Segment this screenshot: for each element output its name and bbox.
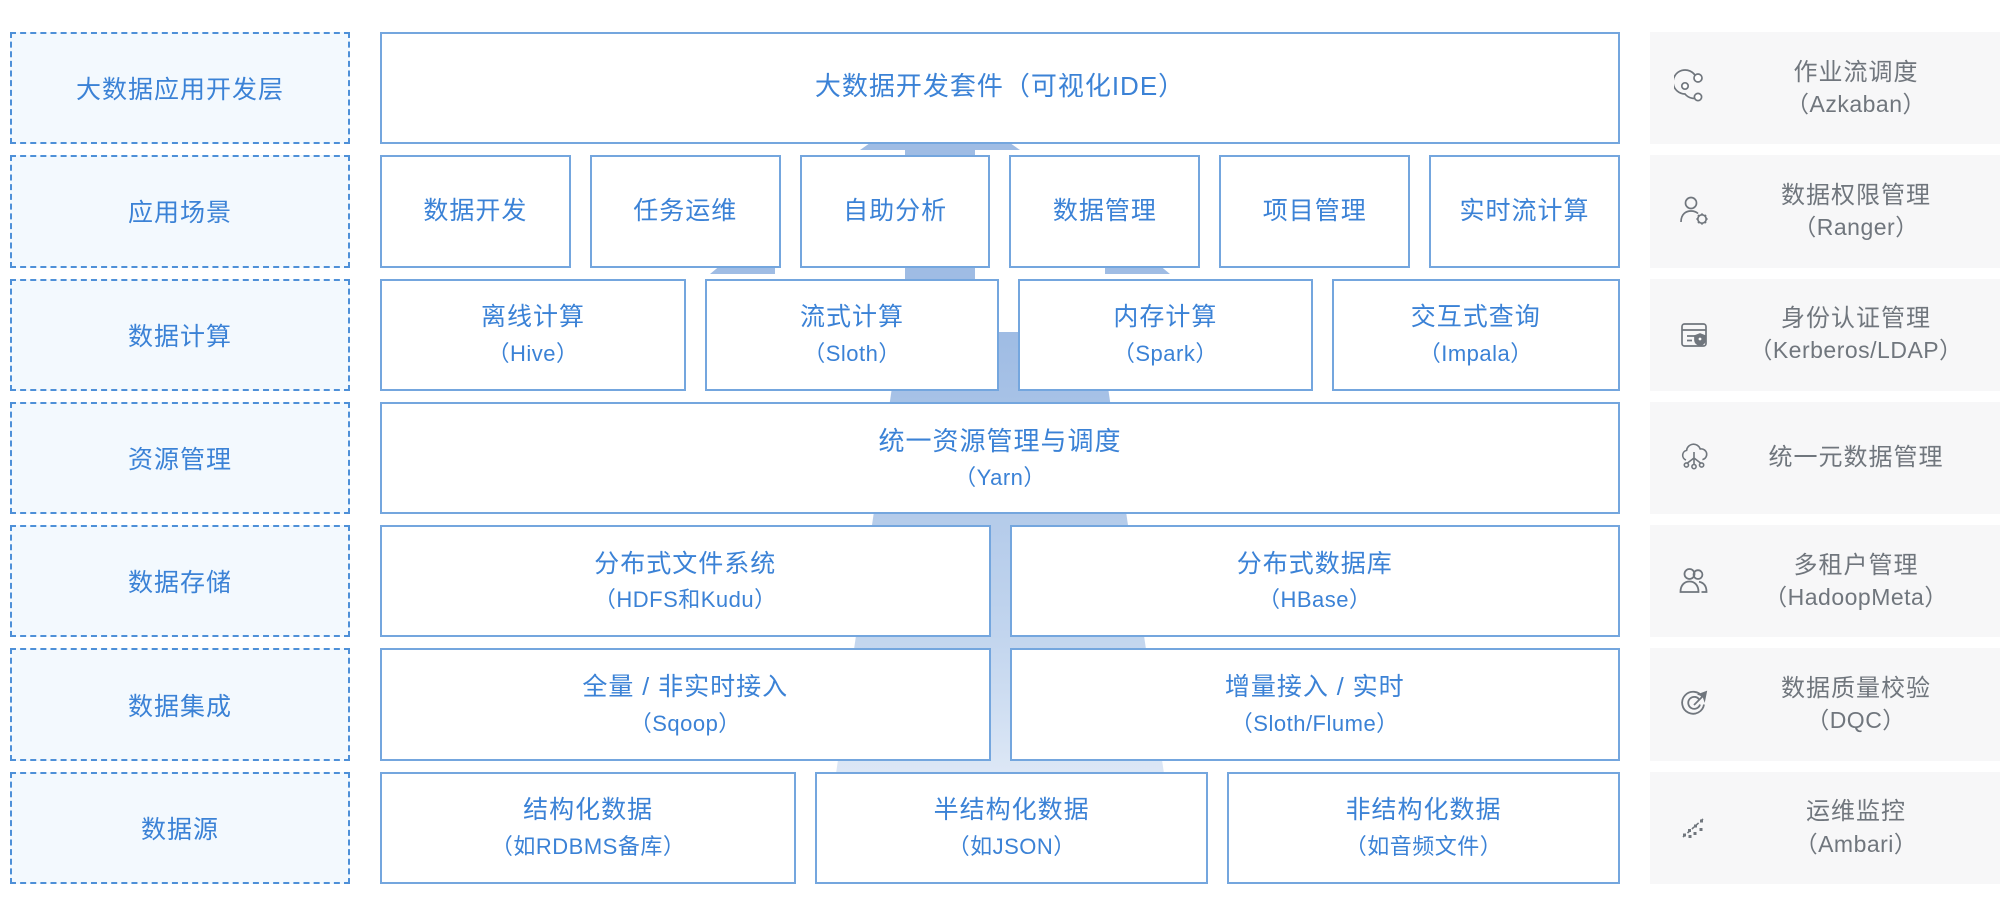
scatter-trend-icon: [1666, 808, 1722, 848]
tool-title: 作业流调度: [1722, 57, 1990, 89]
tool-subtitle: （Ranger）: [1722, 212, 1990, 243]
box-subtitle: （Sloth）: [803, 339, 901, 369]
user-settings-icon: [1666, 191, 1722, 231]
sidebar-item-workflow-scheduling[interactable]: 作业流调度 （Azkaban）: [1650, 32, 2000, 144]
box-title: 分布式文件系统: [594, 548, 776, 582]
box-title: 数据管理: [1053, 195, 1157, 229]
architecture-rows: 大数据开发套件（可视化IDE） 数据开发 任务运维 自助分析 数据管理 项目管理…: [380, 32, 1620, 884]
row-storage: 分布式文件系统 （HDFS和Kudu） 分布式数据库 （HBase）: [380, 525, 1620, 637]
box-title: 自助分析: [843, 195, 947, 229]
box-unified-resource-scheduling[interactable]: 统一资源管理与调度 （Yarn）: [380, 402, 1620, 514]
box-distributed-filesystem[interactable]: 分布式文件系统 （HDFS和Kudu）: [380, 525, 991, 637]
sidebar-item-unified-metadata[interactable]: 统一元数据管理: [1650, 402, 2000, 514]
sidebar-item-label: 数据质量校验 （DQC）: [1722, 673, 2000, 736]
layer-label-text: 数据存储: [128, 563, 232, 599]
row-compute: 离线计算 （Hive） 流式计算 （Sloth） 内存计算 （Spark） 交互…: [380, 279, 1620, 391]
box-title: 全量 / 非实时接入: [582, 671, 788, 705]
sidebar-item-label: 多租户管理 （HadoopMeta）: [1722, 550, 2000, 613]
box-subtitle: （Impala）: [1419, 339, 1533, 369]
layer-label-text: 数据源: [141, 810, 219, 846]
sidebar-item-identity-auth[interactable]: 身份认证管理 （Kerberos/LDAP）: [1650, 279, 2000, 391]
layer-label-text: 应用场景: [128, 193, 232, 229]
box-title: 任务运维: [633, 195, 737, 229]
box-semi-structured-data[interactable]: 半结构化数据 （如JSON）: [815, 772, 1208, 884]
tool-subtitle: （Kerberos/LDAP）: [1722, 335, 1990, 366]
layer-label-sources: 数据源: [10, 772, 350, 884]
row-app-dev: 大数据开发套件（可视化IDE）: [380, 32, 1620, 144]
row-integration: 全量 / 非实时接入 （Sqoop） 增量接入 / 实时 （Sloth/Flum…: [380, 648, 1620, 760]
box-subtitle: （Sloth/Flume）: [1231, 709, 1399, 739]
layer-label-text: 数据计算: [128, 317, 232, 353]
box-title: 统一资源管理与调度: [878, 424, 1121, 459]
box-title: 数据开发: [423, 195, 527, 229]
tool-subtitle: （DQC）: [1722, 705, 1990, 736]
box-title: 交互式查询: [1411, 301, 1541, 335]
tool-title: 统一元数据管理: [1722, 442, 1990, 474]
layer-label-compute: 数据计算: [10, 279, 350, 391]
layer-label-text: 大数据应用开发层: [76, 70, 284, 106]
box-data-development[interactable]: 数据开发: [380, 155, 571, 267]
box-realtime-streaming[interactable]: 实时流计算: [1429, 155, 1620, 267]
box-title: 分布式数据库: [1237, 548, 1393, 582]
sidebar-item-label: 数据权限管理 （Ranger）: [1722, 180, 2000, 243]
sidebar-item-label: 作业流调度 （Azkaban）: [1722, 57, 2000, 120]
box-subtitle: （Spark）: [1113, 339, 1218, 369]
target-arrow-icon: [1666, 685, 1722, 725]
tool-subtitle: （Azkaban）: [1722, 89, 1990, 120]
box-title: 大数据开发套件（可视化IDE）: [815, 69, 1185, 104]
box-title: 离线计算: [481, 301, 585, 335]
tool-subtitle: （Ambari）: [1722, 829, 1990, 860]
box-offline-compute[interactable]: 离线计算 （Hive）: [380, 279, 686, 391]
sidebar-item-label: 统一元数据管理: [1722, 442, 2000, 474]
box-dev-suite[interactable]: 大数据开发套件（可视化IDE）: [380, 32, 1620, 144]
layer-label-resource: 资源管理: [10, 402, 350, 514]
box-title: 实时流计算: [1460, 195, 1590, 229]
box-incremental-realtime-ingest[interactable]: 增量接入 / 实时 （Sloth/Flume）: [1010, 648, 1621, 760]
layer-label-integration: 数据集成: [10, 648, 350, 760]
box-full-batch-ingest[interactable]: 全量 / 非实时接入 （Sqoop）: [380, 648, 991, 760]
box-structured-data[interactable]: 结构化数据 （如RDBMS备库）: [380, 772, 796, 884]
sidebar-item-ops-monitoring[interactable]: 运维监控 （Ambari）: [1650, 772, 2000, 884]
tool-title: 多租户管理: [1722, 550, 1990, 582]
row-scenarios: 数据开发 任务运维 自助分析 数据管理 项目管理 实时流计算: [380, 155, 1620, 267]
layer-label-app-dev: 大数据应用开发层: [10, 32, 350, 144]
box-title: 内存计算: [1113, 301, 1217, 335]
row-sources: 结构化数据 （如RDBMS备库） 半结构化数据 （如JSON） 非结构化数据 （…: [380, 772, 1620, 884]
box-subtitle: （如音频文件）: [1345, 832, 1503, 862]
layer-label-column: 大数据应用开发层 应用场景 数据计算 资源管理 数据存储 数据集成 数据源: [10, 32, 350, 884]
box-subtitle: （如JSON）: [948, 832, 1076, 862]
tool-subtitle: （HadoopMeta）: [1722, 582, 1990, 613]
sidebar-item-label: 身份认证管理 （Kerberos/LDAP）: [1722, 303, 2000, 366]
box-task-ops[interactable]: 任务运维: [590, 155, 781, 267]
box-subtitle: （HBase）: [1258, 585, 1372, 615]
tool-title: 数据质量校验: [1722, 673, 1990, 705]
box-title: 流式计算: [800, 301, 904, 335]
multi-user-icon: [1666, 561, 1722, 601]
sidebar-item-data-permission[interactable]: 数据权限管理 （Ranger）: [1650, 155, 2000, 267]
tool-title: 数据权限管理: [1722, 180, 1990, 212]
box-title: 增量接入 / 实时: [1225, 671, 1405, 705]
box-subtitle: （如RDBMS备库）: [491, 832, 685, 862]
layer-label-storage: 数据存储: [10, 525, 350, 637]
box-self-service-analysis[interactable]: 自助分析: [800, 155, 991, 267]
box-memory-compute[interactable]: 内存计算 （Spark）: [1018, 279, 1312, 391]
box-subtitle: （Hive）: [487, 339, 578, 369]
workflow-nodes-icon: [1666, 68, 1722, 108]
platform-tools-sidebar: 作业流调度 （Azkaban） 数据权限管理 （Ranger）: [1650, 32, 2000, 884]
document-shield-icon: [1666, 315, 1722, 355]
box-title: 半结构化数据: [934, 794, 1090, 828]
box-interactive-query[interactable]: 交互式查询 （Impala）: [1332, 279, 1621, 391]
layer-label-scenarios: 应用场景: [10, 155, 350, 267]
sidebar-item-data-quality[interactable]: 数据质量校验 （DQC）: [1650, 648, 2000, 760]
box-project-management[interactable]: 项目管理: [1219, 155, 1410, 267]
box-data-management[interactable]: 数据管理: [1009, 155, 1200, 267]
row-resource: 统一资源管理与调度 （Yarn）: [380, 402, 1620, 514]
box-title: 非结构化数据: [1346, 794, 1502, 828]
sidebar-item-label: 运维监控 （Ambari）: [1722, 796, 2000, 859]
box-title: 结构化数据: [523, 794, 653, 828]
box-subtitle: （Sqoop）: [630, 709, 741, 739]
sidebar-item-multi-tenant[interactable]: 多租户管理 （HadoopMeta）: [1650, 525, 2000, 637]
tool-title: 身份认证管理: [1722, 303, 1990, 335]
box-subtitle: （HDFS和Kudu）: [594, 585, 777, 615]
box-distributed-database[interactable]: 分布式数据库 （HBase）: [1010, 525, 1621, 637]
box-title: 项目管理: [1263, 195, 1367, 229]
box-unstructured-data[interactable]: 非结构化数据 （如音频文件）: [1227, 772, 1620, 884]
layer-label-text: 资源管理: [128, 440, 232, 476]
tool-title: 运维监控: [1722, 796, 1990, 828]
box-stream-compute[interactable]: 流式计算 （Sloth）: [705, 279, 999, 391]
metadata-cloud-icon: [1666, 438, 1722, 478]
architecture-diagram: 大数据应用开发层 应用场景 数据计算 资源管理 数据存储 数据集成 数据源 大数…: [0, 0, 2000, 916]
box-subtitle: （Yarn）: [954, 463, 1046, 493]
layer-label-text: 数据集成: [128, 687, 232, 723]
